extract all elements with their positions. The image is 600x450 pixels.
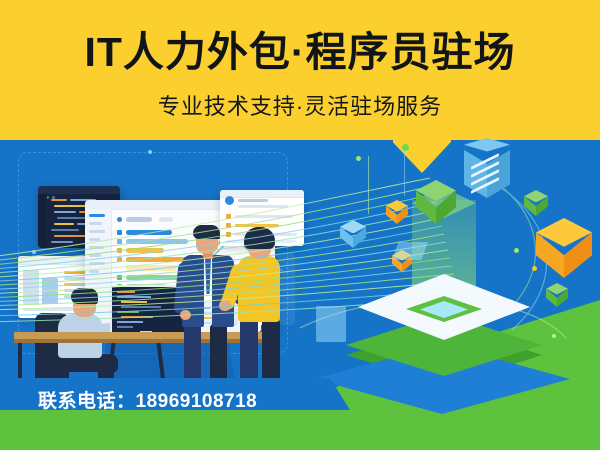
floating-cube-green-top bbox=[416, 180, 456, 224]
sparkle-dot bbox=[356, 156, 361, 161]
contact-phone-text: 联系电话：18969108718 bbox=[38, 386, 257, 413]
headline-block: IT人力外包·程序员驻场 专业技术支持·灵活驻场服务 bbox=[0, 30, 600, 121]
floating-cube-green-upper-right bbox=[524, 190, 548, 216]
sparkle-dot bbox=[552, 334, 556, 338]
page-title: IT人力外包·程序员驻场 bbox=[0, 30, 600, 75]
sparkle-line bbox=[368, 156, 369, 214]
page-subtitle: 专业技术支持·灵活驻场服务 bbox=[0, 89, 600, 121]
floating-cube-blue-left bbox=[340, 220, 366, 248]
sparkle-line bbox=[404, 150, 405, 196]
floating-cube-orange-small bbox=[386, 200, 408, 224]
floating-cube-green-right bbox=[546, 283, 568, 307]
server-cube-icon bbox=[460, 138, 520, 208]
sparkle-dot bbox=[532, 266, 537, 271]
floating-chip-left bbox=[316, 306, 346, 342]
sparkle-dot bbox=[514, 248, 519, 253]
tech-platform-illustration bbox=[300, 138, 600, 428]
promo-banner: 联系电话：18969108718 IT人力外包·程序员驻场 专业技术支持·灵活驻… bbox=[0, 0, 600, 450]
